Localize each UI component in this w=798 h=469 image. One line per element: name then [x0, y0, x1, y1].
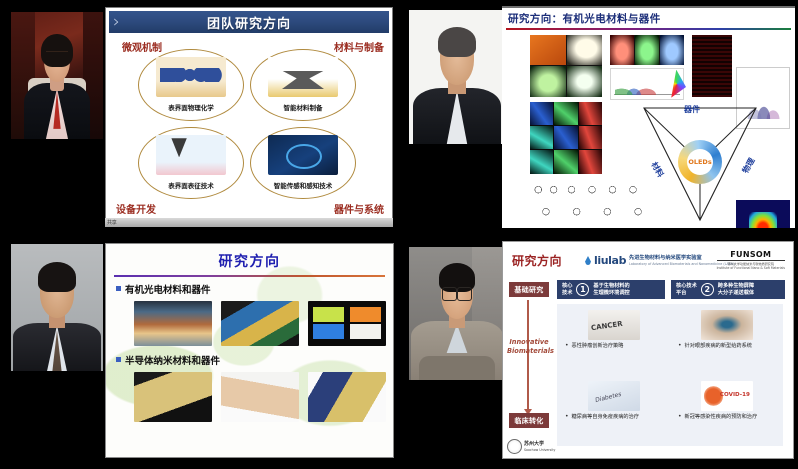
- participant-panel-bottom-right[interactable]: 研究方向 liulab 先进生物材料与纳米医学实验室 Laboratory of…: [399, 235, 798, 469]
- water-drop-icon: [585, 256, 591, 265]
- bullet-dot-icon: •: [678, 343, 682, 349]
- triangle-vertex-label-top: 器件: [684, 104, 700, 115]
- slide-title: 研究方向: [106, 244, 393, 273]
- quadrant-image: [156, 57, 226, 97]
- bullet-square-icon: [116, 286, 121, 291]
- application-cell: • 恶性肿瘤创新治疗策略: [557, 304, 670, 375]
- oled-center-ring: OLEDs: [678, 140, 722, 184]
- shared-slide-4[interactable]: 研究方向 liulab 先进生物材料与纳米医学实验室 Laboratory of…: [502, 241, 794, 459]
- device-photo-grid: [530, 35, 602, 97]
- badge-basic-research: 基础研究: [509, 282, 549, 297]
- application-cell: • 糖尿病等自身免疫疾病的治疗: [557, 375, 670, 446]
- participant-panel-bottom-left[interactable]: 研究方向 有机光电材料和器件 半导体纳米材料和器件: [0, 235, 399, 469]
- banner-tag: 核心 技术: [562, 283, 572, 296]
- participant-video-2: [409, 10, 505, 144]
- quadrant-image: [268, 57, 338, 97]
- quadrant-image: [268, 135, 338, 175]
- oled-triangle-diagram: OLEDs 器件 材料 物理: [640, 102, 760, 224]
- slide-body: OLEDs 器件 材料 物理: [502, 30, 795, 226]
- bullet-label: 有机光电材料和器件: [125, 282, 211, 296]
- application-cell: • 新冠等感染性疾病的预防和治疗: [670, 375, 783, 446]
- lab-logo-name: liulab: [594, 254, 626, 267]
- shared-slide-1[interactable]: › 团队研究方向 微观机制 材料与制备 设备开发 器件与系统 表界面物理化学: [105, 7, 393, 219]
- foldable-display-photo: [221, 301, 299, 346]
- quadrant-diagram: 表界面物理化学 智能材料制备 表界面表征技术: [138, 49, 360, 201]
- quadrant-image: [156, 135, 226, 175]
- quadrant-label: 智能传感和感知技术: [250, 180, 356, 190]
- bullet-item-2: 半导体纳米材料和器件: [106, 353, 393, 367]
- bullet-square-icon: [116, 357, 121, 362]
- shared-slide-3[interactable]: 研究方向 有机光电材料和器件 半导体纳米材料和器件: [105, 243, 394, 458]
- molecular-structures-diagram: [528, 180, 656, 224]
- corner-label-bottom-left: 设备开发: [116, 201, 156, 216]
- rgb-emission-photos: [610, 35, 684, 65]
- application-caption: 恶性肿瘤创新治疗策略: [572, 343, 624, 350]
- banner-number: 1: [576, 283, 589, 296]
- microscopy-photo-grid: [530, 102, 602, 174]
- chevron-right-icon: ›: [113, 12, 135, 32]
- curved-display-photo: [134, 301, 212, 346]
- quadrant-cell: 表界面表征技术: [138, 127, 244, 199]
- oled-center-label: OLEDs: [688, 158, 711, 166]
- eye-disease-image: [701, 310, 753, 340]
- banner-number: 2: [701, 283, 714, 296]
- participant-video-1: [11, 12, 103, 139]
- covid19-image: [701, 381, 753, 411]
- lab-logo-cn-name: 先进生物材料与纳米医学实验室: [629, 255, 702, 261]
- wearable-sensor-photo: [221, 372, 299, 422]
- lab-logo: liulab 先进生物材料与纳米医学实验室 Laboratory of Adva…: [585, 254, 735, 267]
- university-seal: 苏州大学 Soochow University: [507, 439, 555, 454]
- slide-body: 微观机制 材料与制备 设备开发 器件与系统 表界面物理化学 智能材料制备: [106, 33, 392, 219]
- application-caption: 新冠等感染性疾病的预防和治疗: [685, 414, 758, 421]
- participant-video-3: [11, 244, 103, 371]
- bullet-item-1: 有机光电材料和器件: [106, 282, 393, 296]
- quadrant-cell: 智能传感和感知技术: [250, 127, 356, 199]
- slide-title: 研究方向：有机光电材料与器件: [502, 8, 795, 28]
- quadrant-cell: 表界面物理化学: [138, 49, 244, 121]
- org-logo-rule: [717, 260, 785, 261]
- slide-title: 研究方向: [512, 252, 562, 269]
- innovative-biomaterials-label: Innovative Biomaterials: [507, 338, 551, 356]
- corner-label-bottom-right: 器件与系统: [334, 201, 384, 216]
- participant-panel-top-right[interactable]: 研究方向：有机光电材料与器件: [399, 0, 798, 235]
- org-acronym: FUNSOM: [717, 250, 785, 259]
- share-indicator-label: 共享: [105, 219, 116, 226]
- quadrant-label: 表界面表征技术: [138, 180, 244, 190]
- quadrant-cell: 智能材料制备: [250, 49, 356, 121]
- bullet-label: 半导体纳米材料和器件: [125, 353, 220, 367]
- webcam-tile[interactable]: [409, 10, 505, 144]
- bullet-dot-icon: •: [565, 414, 569, 420]
- quadrant-label: 表界面物理化学: [138, 102, 244, 112]
- org-en-line: Institute of Functional Nano & Soft Mate…: [717, 266, 785, 270]
- application-grid: • 恶性肿瘤创新治疗策略 • 针对眼部疾病的新型给药系统: [557, 304, 783, 446]
- photo-row-1: [106, 296, 393, 346]
- quadrant-label: 智能材料制备: [250, 102, 356, 112]
- participant-panel-top-left[interactable]: › 团队研究方向 微观机制 材料与制备 设备开发 器件与系统 表界面物理化学: [0, 0, 399, 235]
- badge-clinical-translation: 临床转化: [509, 413, 549, 428]
- e-skin-hand-photo: [134, 372, 212, 422]
- webcam-tile[interactable]: [11, 12, 103, 139]
- bullet-dot-icon: •: [678, 414, 682, 420]
- core-tech-banner-1: 核心 技术 1 基于生物材料的 生理微环境调控: [557, 280, 665, 299]
- application-caption: 糖尿病等自身免疫疾病的治疗: [572, 414, 639, 421]
- flexible-solar-cell-diagram: [308, 372, 386, 422]
- application-cell: • 针对眼部疾病的新型给药系统: [670, 304, 783, 375]
- shared-slide-2[interactable]: 研究方向：有机光电材料与器件: [502, 6, 795, 228]
- oled-panel-photo: [308, 301, 386, 346]
- slide-title-bar: › 团队研究方向: [109, 11, 389, 33]
- share-status-bar[interactable]: 共享: [105, 218, 393, 227]
- core-tech-banner-2: 核心技术 平台 2 跨多种生物屏障 大分子递送载体: [671, 280, 785, 299]
- slide-title: 团队研究方向: [207, 13, 291, 32]
- seal-ring-icon: [507, 439, 522, 454]
- application-caption: 针对眼部疾病的新型给药系统: [685, 343, 752, 350]
- participant-video-4: [409, 247, 505, 380]
- bullet-dot-icon: •: [565, 343, 569, 349]
- webcam-tile[interactable]: [11, 244, 103, 371]
- diabetes-image: [588, 381, 640, 411]
- video-conference-gallery: › 团队研究方向 微观机制 材料与制备 设备开发 器件与系统 表界面物理化学: [0, 0, 798, 469]
- banner-text: 基于生物材料的 生理微环境调控: [593, 283, 629, 296]
- org-logo: FUNSOM 苏州大学功能纳米与软物质研究院 Institute of Func…: [717, 250, 785, 270]
- seal-en-name: Soochow University: [524, 448, 555, 452]
- banner-tag: 核心技术 平台: [676, 283, 697, 296]
- pixel-array-photo: [692, 35, 732, 97]
- slide-gradient-rule: [114, 275, 385, 277]
- webcam-tile[interactable]: [409, 247, 505, 380]
- cancer-image: [588, 310, 640, 340]
- photo-row-2: [106, 367, 393, 422]
- banner-text: 跨多种生物屏障 大分子递送载体: [718, 283, 754, 296]
